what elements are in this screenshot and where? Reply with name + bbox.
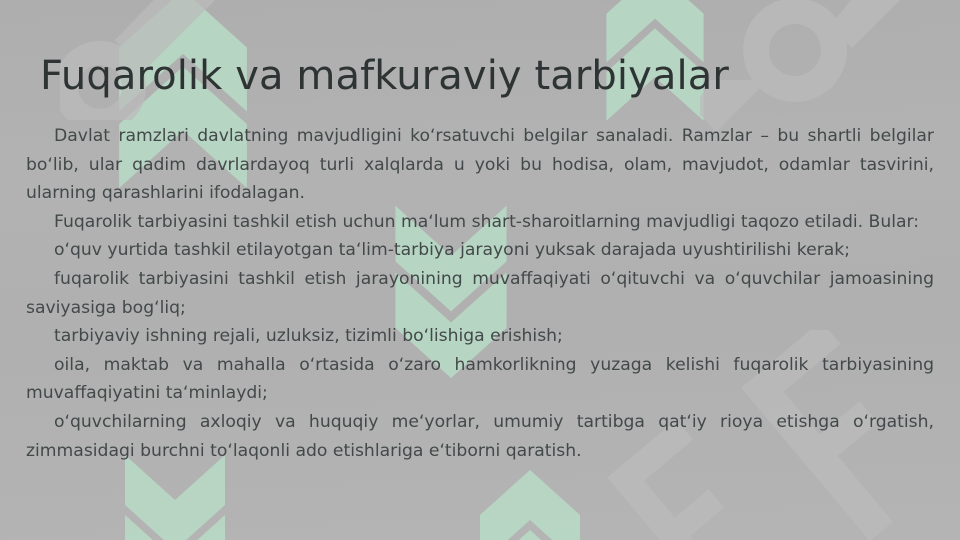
body-paragraph: tarbiyaviy ishning rejali, uzluksiz, tiz…	[26, 322, 934, 351]
body-paragraph: Davlat ramzlari davlatning mavjudligini …	[26, 122, 934, 208]
body-paragraph: oila, maktab va mahalla o‘rtasida o‘zaro…	[26, 351, 934, 408]
body-paragraph: Fuqarolik tarbiyasini tashkil etish uchu…	[26, 208, 934, 237]
body-paragraph: o‘quv yurtida tashkil etilayotgan ta‘lim…	[26, 236, 934, 265]
body-paragraph: o‘quvchilarning axloqiy va huquqiy me‘yo…	[26, 408, 934, 465]
body-paragraph: fuqarolik tarbiyasini tashkil etish jara…	[26, 265, 934, 322]
presentation-slide: Fuqarolik va mafkuraviy tarbiyalar Davla…	[0, 0, 960, 540]
slide-content: Fuqarolik va mafkuraviy tarbiyalar Davla…	[0, 0, 960, 540]
slide-body: Davlat ramzlari davlatning mavjudligini …	[26, 122, 934, 465]
slide-title: Fuqarolik va mafkuraviy tarbiyalar	[40, 52, 920, 100]
